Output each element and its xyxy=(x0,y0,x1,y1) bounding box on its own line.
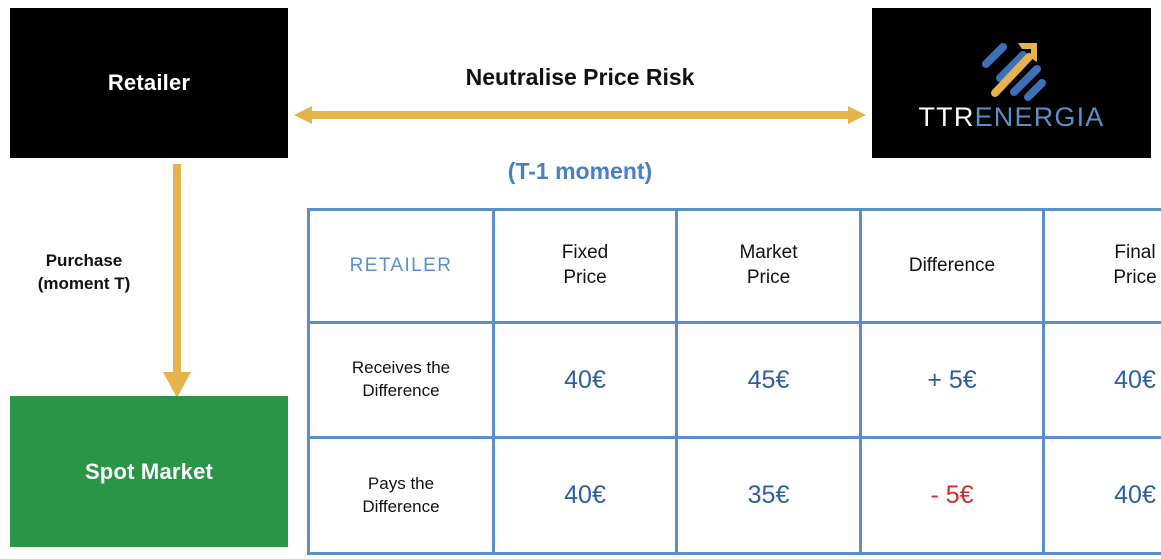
ttr-energia-logo-icon xyxy=(976,36,1048,102)
cell-fixed-price: 40€ xyxy=(494,323,677,438)
table-header-fixed-price: Fixed Price xyxy=(494,210,677,323)
cell-fixed-price: 40€ xyxy=(494,438,677,554)
table-header-row: RETAILER Fixed Price Market Price Differ… xyxy=(309,210,1161,323)
cell-final-price: 40€ xyxy=(1044,323,1161,438)
purchase-label-line2: (moment T) xyxy=(4,273,164,296)
brand-logo-ttr: TTR xyxy=(918,102,974,132)
cell-final-price: 40€ xyxy=(1044,438,1161,554)
table-header-retailer: RETAILER xyxy=(309,210,494,323)
table-header-difference: Difference xyxy=(861,210,1044,323)
diagram-canvas: Retailer TTRENERGIA xyxy=(0,0,1161,559)
cell-market-price: 45€ xyxy=(677,323,861,438)
cell-difference: + 5€ xyxy=(861,323,1044,438)
retailer-box-label: Retailer xyxy=(108,70,190,96)
table-row: Receives the Difference 40€ 45€ + 5€ 40€ xyxy=(309,323,1161,438)
brand-logo-box: TTRENERGIA xyxy=(872,8,1151,158)
purchase-label-line1: Purchase xyxy=(4,250,164,273)
brand-logo: TTRENERGIA xyxy=(918,36,1104,131)
down-arrow-icon xyxy=(160,164,194,398)
neutralise-price-risk-title: Neutralise Price Risk xyxy=(294,64,866,91)
spot-market-box: Spot Market xyxy=(10,396,288,547)
row-label-pays-the-difference: Pays the Difference xyxy=(309,438,494,554)
spot-market-box-label: Spot Market xyxy=(85,459,213,485)
retailer-box: Retailer xyxy=(10,8,288,158)
cell-difference: - 5€ xyxy=(861,438,1044,554)
table-row: Pays the Difference 40€ 35€ - 5€ 40€ xyxy=(309,438,1161,554)
purchase-moment-label: Purchase (moment T) xyxy=(4,250,164,296)
table-header-market-price: Market Price xyxy=(677,210,861,323)
price-comparison-table: RETAILER Fixed Price Market Price Differ… xyxy=(307,208,1161,555)
brand-logo-energia: ENERGIA xyxy=(975,102,1105,132)
t-minus-1-moment-label: (T-1 moment) xyxy=(294,158,866,185)
row-label-receives-the-difference: Receives the Difference xyxy=(309,323,494,438)
brand-logo-wordmark: TTRENERGIA xyxy=(918,104,1104,131)
table-header-final-price: Final Price xyxy=(1044,210,1161,323)
double-headed-horizontal-arrow-icon xyxy=(294,103,866,127)
cell-market-price: 35€ xyxy=(677,438,861,554)
